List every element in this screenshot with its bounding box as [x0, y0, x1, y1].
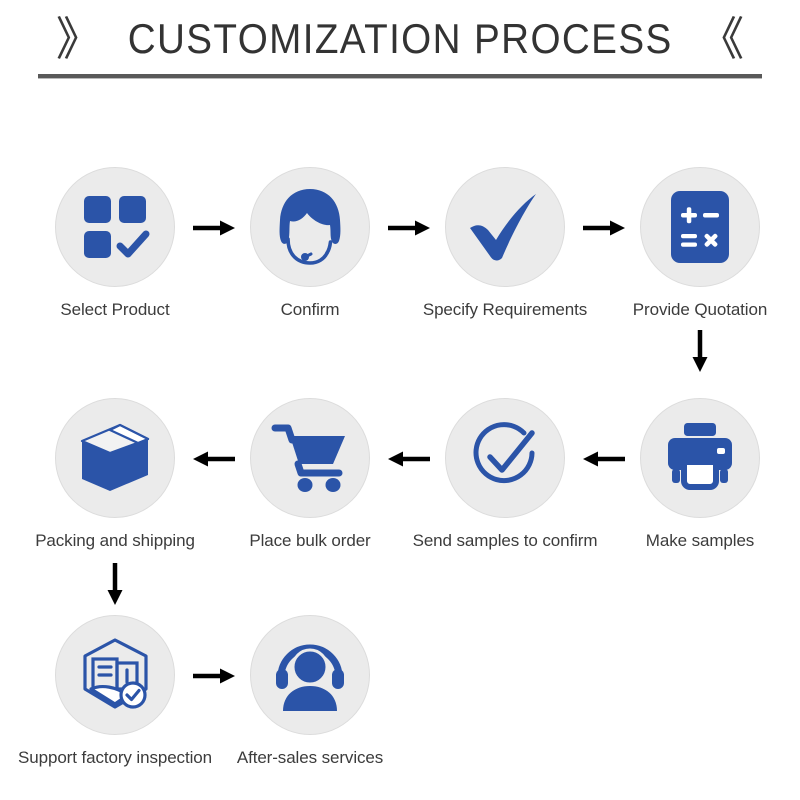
- step-confirm[interactable]: Confirm: [210, 167, 410, 321]
- circle-check-icon: [466, 419, 544, 497]
- step-icon-circle: [250, 398, 370, 518]
- chevron-double-left-icon: 《: [698, 16, 744, 62]
- printer-icon: [662, 421, 738, 495]
- step-label: Make samples: [600, 530, 800, 552]
- step-icon-circle: [55, 615, 175, 735]
- step-icon-circle: [250, 615, 370, 735]
- step-label: Select Product: [15, 299, 215, 321]
- step-icon-circle: [640, 167, 760, 287]
- headset-support-icon: [271, 639, 349, 711]
- step-icon-circle: [445, 167, 565, 287]
- step-make-samples[interactable]: Make samples: [600, 398, 800, 552]
- checkmark-icon: [466, 190, 544, 264]
- header: 》 CUSTOMIZATION PROCESS 《: [0, 0, 800, 92]
- arrow-row2-to-row3: [106, 563, 124, 605]
- step-select-product[interactable]: Select Product: [15, 167, 215, 321]
- step-icon-circle: [55, 167, 175, 287]
- step-send-samples-to-confirm[interactable]: Send samples to confirm: [405, 398, 605, 552]
- step-icon-circle: [250, 167, 370, 287]
- arrow-row1-to-row2: [691, 330, 709, 372]
- shopping-cart-icon: [271, 422, 349, 494]
- step-icon-circle: [55, 398, 175, 518]
- step-label: Packing and shipping: [15, 530, 215, 552]
- step-label: Confirm: [210, 299, 410, 321]
- grid-check-icon: [78, 190, 152, 264]
- step-label: Provide Quotation: [600, 299, 800, 321]
- step-provide-quotation[interactable]: Provide Quotation: [600, 167, 800, 321]
- step-place-bulk-order[interactable]: Place bulk order: [210, 398, 410, 552]
- title-divider: [38, 74, 762, 79]
- step-label: Specify Requirements: [405, 299, 605, 321]
- page-title: 》 CUSTOMIZATION PROCESS 《: [0, 8, 800, 70]
- step-icon-circle: [445, 398, 565, 518]
- step-label: Support factory inspection: [15, 747, 215, 769]
- step-label: After-sales services: [210, 747, 410, 769]
- shield-inspection-icon: [76, 637, 154, 713]
- step-label: Send samples to confirm: [405, 530, 605, 552]
- headset-operator-icon: [271, 187, 349, 267]
- step-after-sales-services[interactable]: After-sales services: [210, 615, 410, 769]
- page-title-text: CUSTOMIZATION PROCESS: [128, 15, 673, 63]
- package-box-icon: [76, 419, 154, 497]
- customization-process-infographic: 》 CUSTOMIZATION PROCESS 《 Select Product: [0, 0, 800, 800]
- step-support-factory-inspection[interactable]: Support factory inspection: [15, 615, 215, 769]
- step-specify-requirements[interactable]: Specify Requirements: [405, 167, 605, 321]
- step-icon-circle: [640, 398, 760, 518]
- calculator-icon: [669, 189, 731, 265]
- step-packing-and-shipping[interactable]: Packing and shipping: [15, 398, 215, 552]
- step-label: Place bulk order: [210, 530, 410, 552]
- chevron-double-right-icon: 》: [56, 16, 102, 62]
